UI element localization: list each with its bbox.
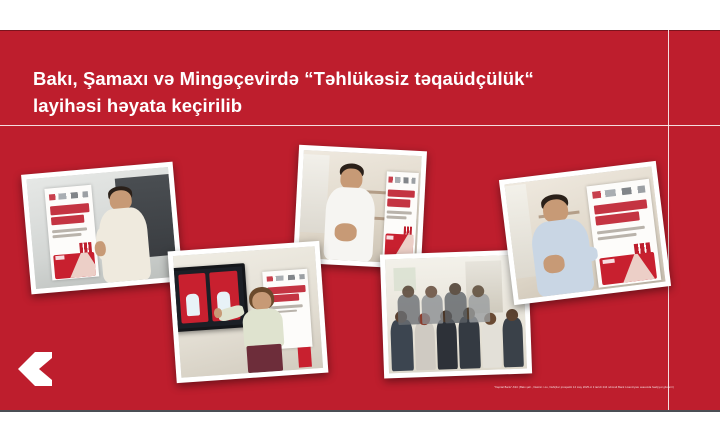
logo-shape-bottom <box>18 369 35 386</box>
photo-speaker-blue-polo <box>499 161 671 305</box>
screenshot-canvas: Bakı, Şamaxı və Mingəçevirdə “Təhlükəsiz… <box>0 0 720 446</box>
photo-presenter-cream-polo <box>21 162 183 295</box>
news-banner: Bakı, Şamaxı və Mingəçevirdə “Təhlükəsiz… <box>0 30 720 412</box>
kapital-bank-logo <box>18 352 52 386</box>
legal-disclaimer: "Kapital Bank" ASC (Bakı şəh., Nəsimi r-… <box>484 386 684 390</box>
photo-woman-pointing-screen <box>168 241 329 383</box>
logo-shape-chevron <box>39 358 52 380</box>
photo-collage <box>0 30 720 412</box>
logo-shape-top <box>18 352 35 369</box>
